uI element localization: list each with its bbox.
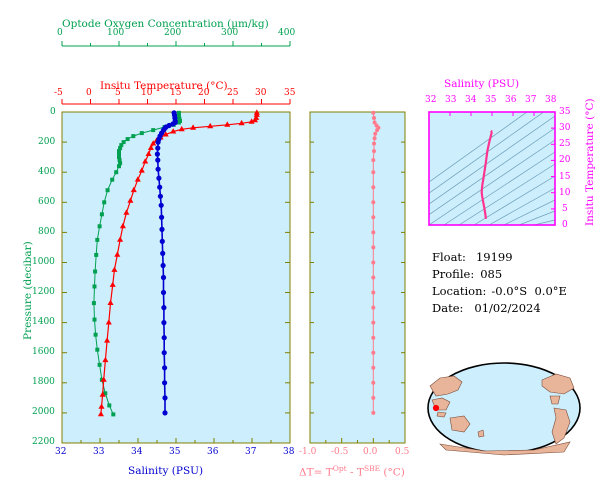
pressure-tick-11: 2200 <box>32 437 55 447</box>
delta-title-sup1: Opt <box>333 464 347 473</box>
pressure-axis-title: Pressure (decibar) <box>22 241 34 340</box>
ts-plot <box>429 112 555 225</box>
pressure-tick-10: 2000 <box>32 407 55 417</box>
temp-tick-1: 0 <box>86 88 92 98</box>
ts-temp-tick-30: 30 <box>559 123 570 133</box>
salinity-tick-3: 35 <box>169 447 180 457</box>
date-value: 01/02/2024 <box>474 301 540 315</box>
ts-sal-tick-5: 37 <box>525 95 536 105</box>
temp-tick-4: 15 <box>170 88 181 98</box>
delta-title-main: ΔT= T <box>299 467 333 479</box>
oxygen-tick-0: 0 <box>57 28 63 38</box>
pressure-tick-4: 800 <box>38 227 55 237</box>
ts-temp-tick-0: 0 <box>562 220 568 230</box>
salinity-tick-5: 37 <box>245 447 256 457</box>
pressure-tick-5: 1000 <box>32 257 55 267</box>
delta-plot <box>310 112 405 443</box>
ts-sal-tick-4: 36 <box>505 95 516 105</box>
temp-tick-0: -5 <box>54 88 63 98</box>
salinity-tick-1: 33 <box>93 447 104 457</box>
temp-tick-7: 30 <box>255 88 266 98</box>
delta-tick-3: 0.5 <box>395 447 409 457</box>
delta-title-mid: - T <box>347 467 364 479</box>
ts-temp-tick-35: 35 <box>559 107 570 117</box>
date-label: Date: <box>432 301 463 315</box>
temp-tick-8: 35 <box>284 88 295 98</box>
location-value: -0.0°S 0.0°E <box>491 284 567 298</box>
ts-temp-tick-20: 20 <box>559 155 570 165</box>
ts-sal-tick-0: 32 <box>425 95 436 105</box>
pressure-tick-0: 0 <box>50 107 56 117</box>
temp-tick-6: 25 <box>227 88 238 98</box>
main-profile-plot <box>62 112 290 443</box>
world-map-thumbnail <box>424 356 584 461</box>
pressure-tick-9: 1800 <box>32 377 55 387</box>
ts-panel-title: Salinity (PSU) <box>444 78 519 90</box>
ts-temp-tick-15: 15 <box>559 172 570 182</box>
float-value: 19199 <box>476 250 513 264</box>
delta-title-sup2: SBE <box>364 464 380 473</box>
ts-temp-tick-10: 10 <box>559 188 570 198</box>
pressure-tick-2: 400 <box>38 167 55 177</box>
delta-tick-1: -0.5 <box>331 447 348 457</box>
pressure-tick-6: 1200 <box>32 287 55 297</box>
salinity-tick-4: 36 <box>207 447 218 457</box>
profile-value: 085 <box>480 267 502 281</box>
pressure-tick-7: 1400 <box>32 317 55 327</box>
delta-axis-title: ΔT= TOpt - TSBE (°C) <box>299 464 405 479</box>
ts-sal-tick-2: 34 <box>465 95 476 105</box>
profile-label: Profile: <box>432 267 474 281</box>
salinity-tick-0: 32 <box>55 447 66 457</box>
oxygen-tick-4: 400 <box>278 28 295 38</box>
temp-tick-3: 10 <box>141 88 152 98</box>
oxygen-tick-1: 100 <box>107 28 124 38</box>
pressure-tick-8: 1600 <box>32 347 55 357</box>
ts-temp-axis-title: Insitu Temperature (°C) <box>584 98 596 226</box>
pressure-tick-1: 200 <box>38 137 55 147</box>
delta-tick-0: -1.0 <box>299 447 316 457</box>
temp-tick-5: 20 <box>198 88 209 98</box>
delta-tick-2: 0.0 <box>363 447 377 457</box>
ts-sal-tick-1: 33 <box>445 95 456 105</box>
ts-temp-tick-25: 25 <box>559 139 570 149</box>
oxygen-tick-3: 300 <box>221 28 238 38</box>
salinity-axis-title: Salinity (PSU) <box>128 465 203 477</box>
location-label: Location: <box>432 284 486 298</box>
ts-sal-tick-6: 38 <box>545 95 556 105</box>
oxygen-tick-2: 200 <box>164 28 181 38</box>
pressure-tick-3: 600 <box>38 197 55 207</box>
ts-sal-tick-3: 35 <box>485 95 496 105</box>
temp-tick-2: 5 <box>115 88 121 98</box>
delta-title-unit: (°C) <box>380 467 405 479</box>
info-block: Float:19199 Profile:085 Location:-0.0°S … <box>432 248 567 316</box>
float-label: Float: <box>432 250 466 264</box>
salinity-tick-6: 38 <box>283 447 294 457</box>
salinity-tick-2: 34 <box>131 447 142 457</box>
ts-temp-tick-5: 5 <box>562 204 568 214</box>
